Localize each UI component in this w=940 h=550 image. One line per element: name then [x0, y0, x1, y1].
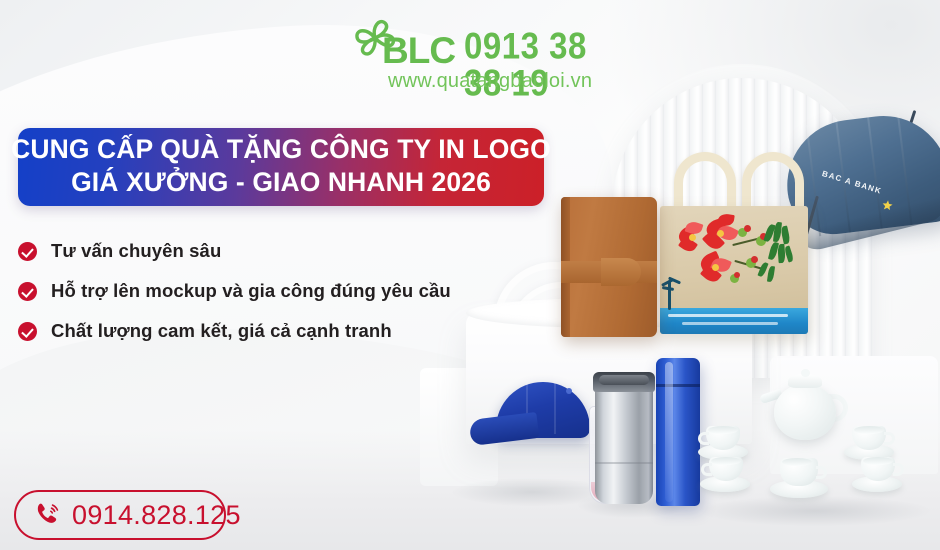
product-tumbler — [595, 372, 653, 504]
list-item: Hỗ trợ lên mockup và gia công đúng yêu c… — [18, 280, 488, 302]
check-circle-icon — [18, 242, 37, 261]
tumbler-lid — [593, 372, 655, 392]
list-item: Chất lượng cam kết, giá cả cạnh tranh — [18, 320, 488, 342]
list-item: Tư vấn chuyên sâu — [18, 240, 488, 262]
star-icon — [881, 199, 893, 211]
cap-button — [566, 388, 572, 394]
headline-banner: CUNG CẤP QUÀ TẶNG CÔNG TY IN LOGO GIÁ XƯ… — [18, 128, 544, 206]
contact-phone-button[interactable]: 0914.828.125 — [14, 490, 226, 540]
tumbler-body — [595, 386, 653, 504]
brand-logo: BLC 0913 38 38 19 www.quatangbaoloi.vn — [352, 14, 602, 96]
product-cap — [470, 382, 590, 448]
banner-canvas: BLC 0913 38 38 19 www.quatangbaoloi.vn C… — [0, 0, 940, 550]
phone-ringing-icon — [32, 500, 62, 530]
tote-sea-painting — [660, 308, 808, 334]
contact-phone-number: 0914.828.125 — [72, 500, 241, 531]
teapot-knob — [801, 369, 810, 377]
headline-line-1: CUNG CẤP QUÀ TẶNG CÔNG TY IN LOGO — [11, 133, 551, 166]
tote-handle-left — [674, 152, 736, 210]
feature-text: Chất lượng cam kết, giá cả cạnh tranh — [51, 320, 392, 342]
thermos-highlight — [665, 362, 673, 502]
product-umbrella: BAC A BANK — [786, 104, 940, 282]
product-thermos — [656, 358, 700, 506]
product-teapot — [762, 370, 848, 444]
check-circle-icon — [18, 322, 37, 341]
cap-brim — [469, 412, 540, 446]
thermos-cap-seam — [656, 384, 700, 387]
headline-line-2: GIÁ XƯỞNG - GIAO NHANH 2026 — [71, 166, 491, 199]
notebook-clasp — [601, 258, 641, 286]
feature-text: Hỗ trợ lên mockup và gia công đúng yêu c… — [51, 280, 451, 302]
teapot-body — [774, 384, 836, 440]
product-tote-bag — [660, 206, 808, 334]
check-circle-icon — [18, 282, 37, 301]
feature-text: Tư vấn chuyên sâu — [51, 240, 221, 262]
tote-handle-right — [742, 152, 804, 210]
brand-website-text: www.quatangbaoloi.vn — [388, 70, 592, 93]
brand-name-text: BLC — [382, 32, 455, 69]
shadow-teaset — [700, 496, 930, 526]
feature-list: Tư vấn chuyên sâu Hỗ trợ lên mockup và g… — [18, 240, 488, 360]
product-notebook — [561, 197, 657, 337]
